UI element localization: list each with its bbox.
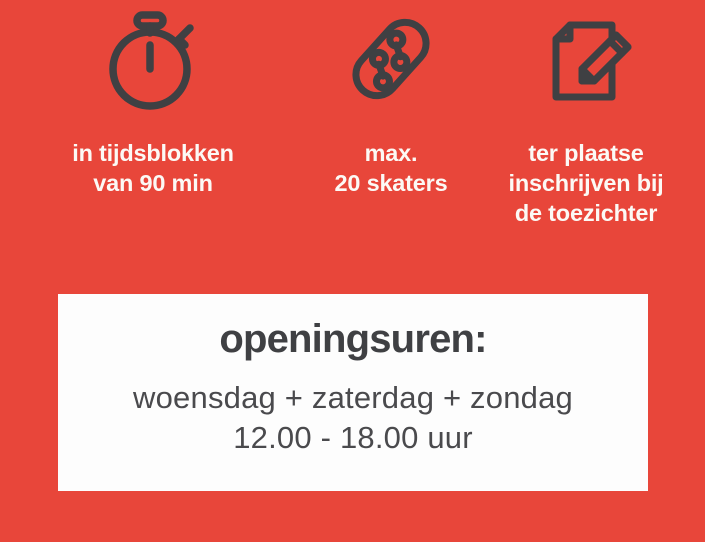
feature-label-line: in tijdsblokken [72,138,234,168]
poster-canvas: in tijdsblokken van 90 min [0,0,705,542]
opening-hours-box: openingsuren: woensdag + zaterdag + zond… [58,294,648,491]
feature-label-line: ter plaatse [508,138,663,168]
feature-register-onsite: ter plaatse inschrijven bij de toezichte… [493,0,679,228]
feature-label-line: 20 skaters [335,168,448,198]
feature-row: in tijdsblokken van 90 min [0,0,705,270]
feature-time-blocks: in tijdsblokken van 90 min [37,0,269,198]
opening-hours-times: 12.00 - 18.00 uur [233,418,473,458]
stopwatch-icon [105,0,201,118]
feature-label: ter plaatse inschrijven bij de toezichte… [508,138,663,228]
feature-label-line: van 90 min [72,168,234,198]
opening-hours-title: openingsuren: [219,314,486,364]
feature-label: max. 20 skaters [335,138,448,198]
feature-max-skaters: max. 20 skaters [316,0,466,198]
opening-hours-days: woensdag + zaterdag + zondag [133,378,573,418]
document-pencil-icon [536,0,636,118]
feature-label-line: max. [335,138,448,168]
feature-label-line: inschrijven bij [508,168,663,198]
feature-label: in tijdsblokken van 90 min [72,138,234,198]
feature-label-line: de toezichter [508,198,663,228]
skateboard-icon [339,0,443,118]
